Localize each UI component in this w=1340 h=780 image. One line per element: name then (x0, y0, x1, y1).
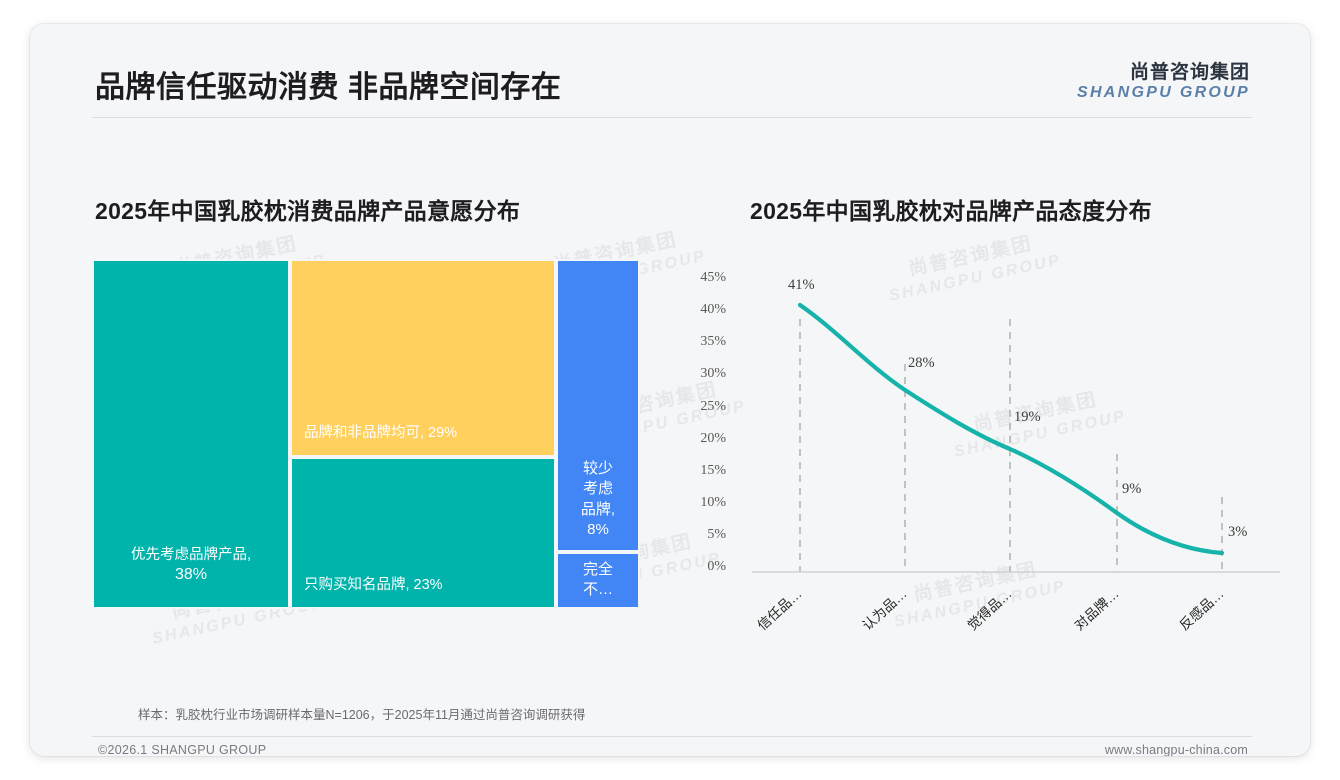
x-axis-tick: 信任品… (752, 583, 806, 634)
x-axis-tick: 对品牌… (1069, 583, 1123, 634)
data-label: 28% (908, 355, 935, 372)
treemap-chart: 优先考虑品牌产品, 38% 品牌和非品牌均可, 29% 只购买知名品牌, 23%… (92, 259, 640, 609)
treemap-tile-label: 只购买知名品牌, 23% (304, 576, 443, 595)
treemap-tile-never-consider-brand[interactable]: 完全 不… (556, 552, 640, 609)
treemap-tile-brand-or-nonbrand[interactable]: 品牌和非品牌均可, 29% (290, 259, 556, 457)
slide-canvas: 品牌信任驱动消费 非品牌空间存在 尚普咨询集团 SHANGPU GROUP 尚普… (30, 24, 1310, 756)
header-divider (92, 117, 1252, 118)
footer-website[interactable]: www.shangpu-china.com (1105, 743, 1248, 756)
line-chart-plot (680, 259, 1295, 589)
data-label: 19% (1014, 409, 1041, 426)
data-label: 41% (788, 277, 815, 294)
left-chart-title: 2025年中国乳胶枕消费品牌产品意愿分布 (95, 192, 520, 226)
logo-english-text: SHANGPU GROUP (1077, 84, 1250, 102)
footer-divider (92, 736, 1252, 737)
treemap-tile-label: 品牌和非品牌均可, 29% (304, 424, 457, 443)
treemap-tile-value: 38% (94, 564, 288, 585)
data-label: 3% (1228, 524, 1247, 541)
page-title: 品牌信任驱动消费 非品牌空间存在 (95, 62, 561, 106)
x-axis-tick: 觉得品… (962, 583, 1016, 634)
right-chart-title: 2025年中国乳胶枕对品牌产品态度分布 (750, 192, 1152, 226)
slide-header: 品牌信任驱动消费 非品牌空间存在 尚普咨询集团 SHANGPU GROUP (30, 24, 1310, 120)
x-axis-tick: 反感品… (1174, 583, 1228, 634)
line-chart: 45% 40% 35% 30% 25% 20% 15% 10% 5% 0% 41… (680, 259, 1295, 659)
footer-copyright: ©2026.1 SHANGPU GROUP (98, 743, 266, 756)
series-line (800, 305, 1222, 553)
treemap-tile-label: 较少 考虑 品牌, 8% (558, 459, 638, 540)
brand-logo: 尚普咨询集团 SHANGPU GROUP (1077, 62, 1250, 102)
footnote-text: 样本：乳胶枕行业市场调研样本量N=1206，于2025年11月通过尚普咨询调研获… (138, 704, 585, 723)
treemap-tile-label: 优先考虑品牌产品, (94, 546, 288, 565)
data-label: 9% (1122, 481, 1141, 498)
x-axis-tick: 认为品… (857, 583, 911, 634)
treemap-tile-label: 完全 不… (558, 560, 638, 599)
treemap-tile-less-consider-brand[interactable]: 较少 考虑 品牌, 8% (556, 259, 640, 552)
treemap-tile-priority-brand[interactable]: 优先考虑品牌产品, 38% (92, 259, 290, 609)
logo-chinese-text: 尚普咨询集团 (1077, 62, 1250, 84)
treemap-tile-famous-brand-only[interactable]: 只购买知名品牌, 23% (290, 457, 556, 609)
